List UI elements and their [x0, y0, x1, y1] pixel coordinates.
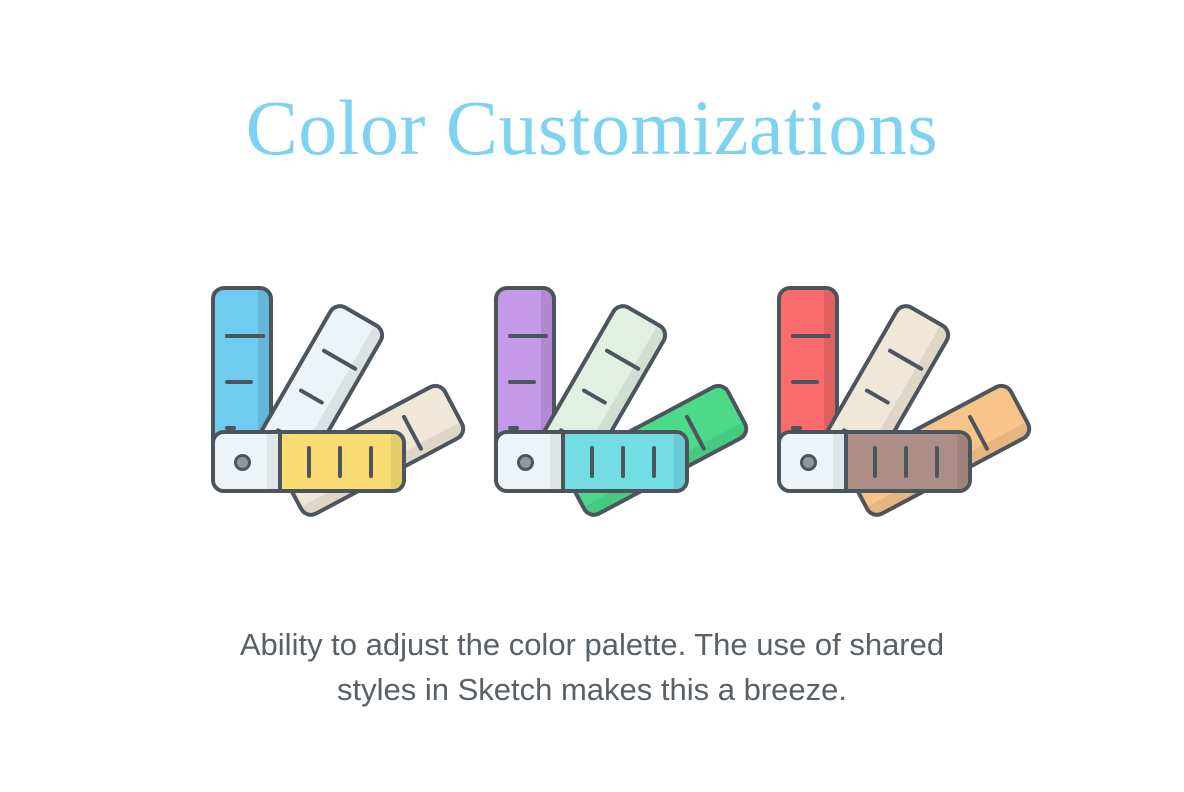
card-inner-shade: [391, 434, 402, 489]
tick-mark: [369, 446, 373, 478]
tick-mark: [621, 446, 625, 478]
palette-group-1: [198, 278, 420, 493]
tick-mark: [225, 380, 253, 384]
tick-mark: [321, 348, 358, 371]
card-inner-shade: [957, 434, 968, 489]
caption-text: Ability to adjust the color palette. The…: [192, 622, 992, 712]
card-inner-shade: [674, 434, 685, 489]
tick-mark: [581, 388, 607, 405]
palette-3-bottom-card: [777, 430, 972, 493]
tick-mark: [791, 380, 819, 384]
palette-3-bottom-right: [844, 434, 968, 489]
palette-1-bottom-right: [278, 434, 402, 489]
rivet-dot-icon: [517, 454, 534, 471]
tick-mark: [225, 334, 265, 338]
tick-mark: [338, 446, 342, 478]
tick-mark: [508, 334, 548, 338]
caption-line-2: styles in Sketch makes this a breeze.: [192, 667, 992, 712]
palette-3-bottom-left: [781, 434, 844, 489]
palette-1-bottom-left: [215, 434, 278, 489]
card-inner-shade: [550, 434, 561, 489]
palette-group-3: [764, 278, 986, 493]
tick-mark: [904, 446, 908, 478]
rivet-dot-icon: [800, 454, 817, 471]
rivet-dot-icon: [234, 454, 251, 471]
card-inner-shade: [267, 434, 278, 489]
palette-2-bottom-card: [494, 430, 689, 493]
palette-2-bottom-left: [498, 434, 561, 489]
tick-mark: [791, 334, 831, 338]
tick-mark: [652, 446, 656, 478]
page-title: Color Customizations: [0, 82, 1184, 174]
tick-mark: [887, 348, 924, 371]
tick-mark: [864, 388, 890, 405]
card-inner-shade: [833, 434, 844, 489]
tick-mark: [590, 446, 594, 478]
tick-mark: [298, 388, 324, 405]
tick-mark: [604, 348, 641, 371]
palette-illustration-row: [0, 278, 1184, 498]
palette-1-bottom-card: [211, 430, 406, 493]
tick-mark: [508, 380, 536, 384]
tick-mark: [935, 446, 939, 478]
slide-canvas: Color Customizations: [0, 0, 1184, 792]
tick-mark: [873, 446, 877, 478]
palette-group-2: [481, 278, 703, 493]
palette-2-bottom-right: [561, 434, 685, 489]
caption-line-1: Ability to adjust the color palette. The…: [192, 622, 992, 667]
tick-mark: [307, 446, 311, 478]
